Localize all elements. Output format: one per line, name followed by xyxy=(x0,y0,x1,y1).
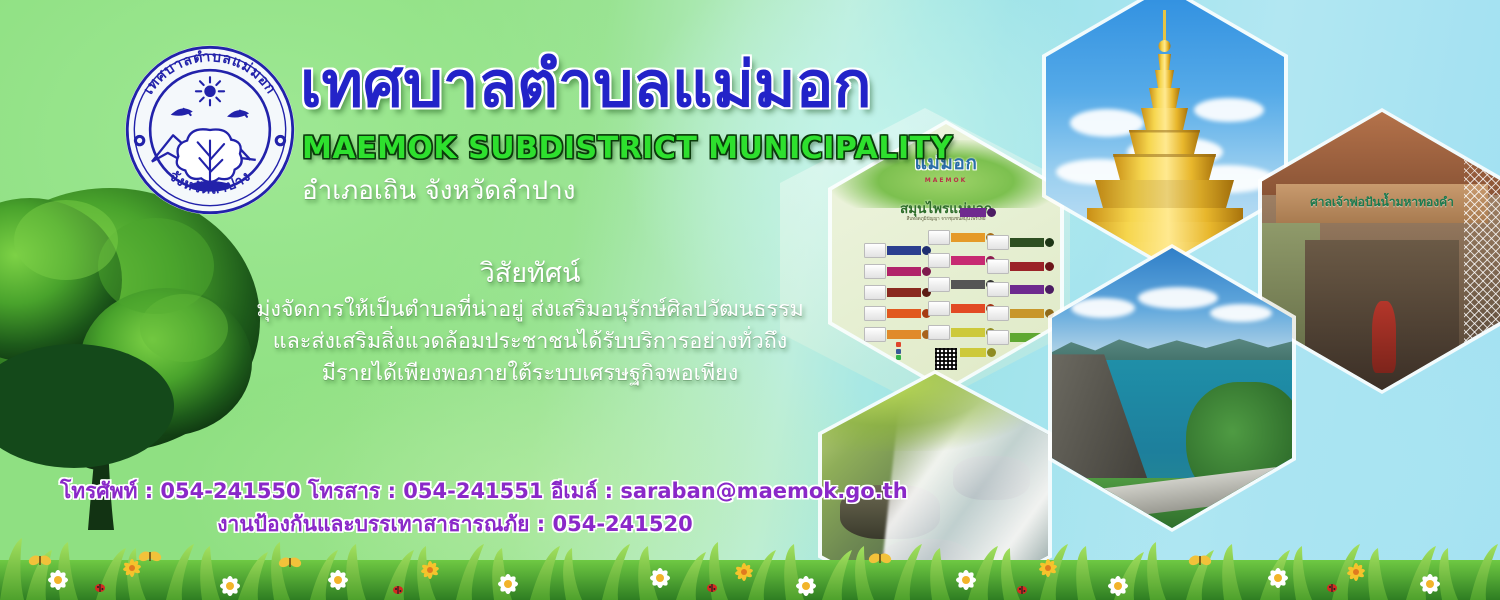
sun-icon xyxy=(196,77,224,105)
shrine-sign-text: ศาลเจ้าพ่อปันน้ำมหาทองคำ xyxy=(1310,193,1454,212)
municipality-banner: แม่มอก MAEMOK สมุนไพรแม่มอก สืบทอดภูมิปั… xyxy=(0,0,1500,600)
page-subtitle-thai: อำเภอเถิน จังหวัดลำปาง xyxy=(302,170,575,211)
vision-block: วิสัยทัศน์ มุ่งจัดการให้เป็นตำบลที่น่าอย… xyxy=(250,258,810,390)
page-title-thai: เทศบาลตำบลแม่มอก xyxy=(300,52,872,118)
vision-line-2: และส่งเสริมสิ่งแวดล้อมประชาชนได้รับบริกา… xyxy=(250,326,810,358)
page-title-english: MAEMOK SUBDISTRICT MUNICIPALITY xyxy=(302,131,953,166)
vision-line-3: มีรายได้เพียงพอภายใต้ระบบเศรษฐกิจพอเพียง xyxy=(250,358,810,390)
grass-flower-border xyxy=(0,508,1500,600)
poster-logo-subtext: MAEMOK xyxy=(925,177,967,184)
vision-line-1: มุ่งจัดการให้เป็นตำบลที่น่าอยู่ ส่งเสริม… xyxy=(250,294,810,326)
contact-line-primary[interactable]: โทรศัพท์ : 054-241550 โทรสาร : 054-24155… xyxy=(60,475,850,508)
vision-heading: วิสัยทัศน์ xyxy=(250,258,810,290)
poster-qr-code xyxy=(935,348,957,370)
municipality-seal: เทศบาลตำบลแม่มอก จังหวัดลำปาง xyxy=(122,42,298,218)
